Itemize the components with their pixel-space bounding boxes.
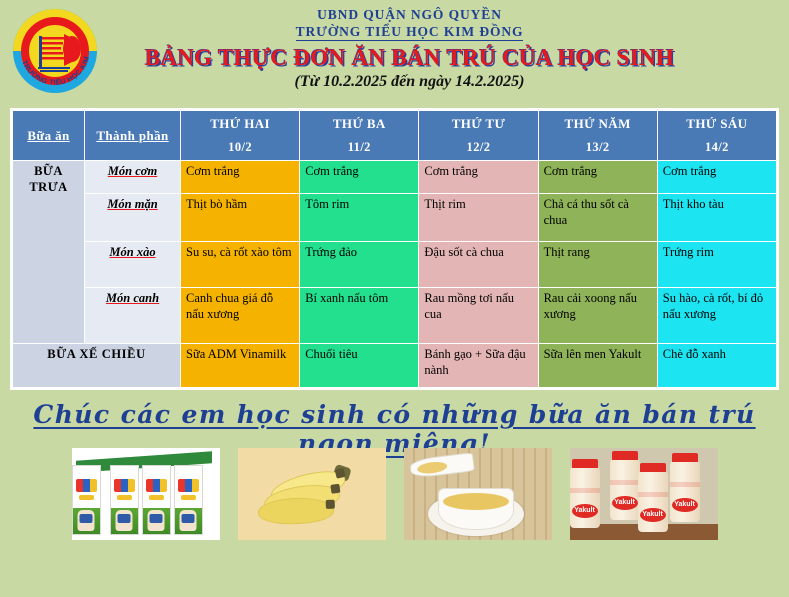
corn-soup-liquid xyxy=(443,493,509,510)
org-authority-line: UBND QUẬN NGÔ QUYỀN xyxy=(40,6,779,23)
component-label-mon-com: Món cơm xyxy=(85,161,181,194)
table-row-mon-man: Món mặn Thịt bò hầm Tôm rim Thịt rim Chả… xyxy=(13,194,777,242)
page-header: TRƯỜNG TIỂU HỌC KIM ĐỒNG UBND QUẬN NGÔ Q… xyxy=(0,0,789,104)
day-date-thursday: 13/2 xyxy=(544,140,652,156)
cell-mon-man-friday: Thịt kho tàu xyxy=(657,194,776,242)
cow-mascot-icon xyxy=(78,510,95,531)
cell-mon-xao-wednesday: Đậu sốt cà chua xyxy=(419,242,538,288)
meal-label-lunch-line2: TRƯA xyxy=(29,180,67,194)
table-header-row: Bữa ăn Thành phần THỨ HAI 10/2 THỨ BA 11… xyxy=(13,111,777,161)
table-row-mon-xao: Món xào Su su, cà rốt xào tôm Trứng đảo … xyxy=(13,242,777,288)
cell-mon-canh-thursday: Rau cải xoong nấu xương xyxy=(538,288,657,344)
school-name-line: TRƯỜNG TIỂU HỌC KIM ĐỒNG xyxy=(40,23,779,40)
day-name-thursday: THỨ NĂM xyxy=(544,116,652,132)
milk-carton xyxy=(110,465,139,535)
column-header-component: Thành phần xyxy=(85,111,181,161)
table-body: BỮA TRƯA Món cơm Cơm trắng Cơm trắng Cơm… xyxy=(13,161,777,388)
cell-mon-man-thursday: Chả cá thu sốt cà chua xyxy=(538,194,657,242)
cell-mon-com-tuesday: Cơm trắng xyxy=(300,161,419,194)
yakult-label: Yakult xyxy=(572,504,598,518)
cell-mon-com-wednesday: Cơm trắng xyxy=(419,161,538,194)
banana-stem xyxy=(334,468,345,479)
bottle-band xyxy=(670,482,700,487)
date-range-subtitle: (Từ 10.2.2025 đến ngày 14.2.2025) xyxy=(40,73,779,91)
day-name-friday: THỨ SÁU xyxy=(663,116,771,132)
day-name-wednesday: THỨ TƯ xyxy=(424,116,532,132)
school-logo: TRƯỜNG TIỂU HỌC KIM ĐỒNG xyxy=(12,6,98,96)
page-title: BẢNG THỰC ĐƠN ĂN BÁN TRÚ CỦA HỌC SINH xyxy=(40,44,779,71)
yakult-bottles-photo: Yakult Yakult Yakult Yakult xyxy=(570,448,718,540)
cell-snack-friday: Chè đỗ xanh xyxy=(657,344,776,388)
cell-mon-canh-tuesday: Bí xanh nấu tôm xyxy=(300,288,419,344)
yakult-bottle: Yakult xyxy=(570,466,600,528)
yakult-label: Yakult xyxy=(672,498,698,512)
day-name-monday: THỨ HAI xyxy=(186,116,294,132)
milk-carton xyxy=(142,465,171,535)
day-date-tuesday: 11/2 xyxy=(305,140,413,156)
day-date-friday: 14/2 xyxy=(663,140,771,156)
bottle-band xyxy=(610,480,640,485)
wish-banner: Chúc các em học sinh có những bữa ăn bán… xyxy=(0,400,789,444)
cow-mascot-icon xyxy=(116,510,133,531)
milk-carton xyxy=(174,465,203,535)
cell-mon-xao-tuesday: Trứng đảo xyxy=(300,242,419,288)
table-header: Bữa ăn Thành phần THỨ HAI 10/2 THỨ BA 11… xyxy=(13,111,777,161)
cell-mon-man-monday: Thịt bò hầm xyxy=(181,194,300,242)
cell-mon-canh-monday: Canh chua giá đỗ nấu xương xyxy=(181,288,300,344)
cell-mon-canh-friday: Su hào, cà rốt, bí đỏ nấu xương xyxy=(657,288,776,344)
component-label-mon-xao: Món xào xyxy=(85,242,181,288)
table-row-mon-canh: Món canh Canh chua giá đỗ nấu xương Bí x… xyxy=(13,288,777,344)
column-header-wednesday: THỨ TƯ 12/2 xyxy=(419,111,538,161)
banana-stem xyxy=(330,484,340,494)
cell-mon-xao-friday: Trứng rim xyxy=(657,242,776,288)
menu-table: Bữa ăn Thành phần THỨ HAI 10/2 THỨ BA 11… xyxy=(12,110,777,388)
milk-cartons-photo xyxy=(72,448,220,540)
corn-soup-photo xyxy=(404,448,552,540)
column-header-meal: Bữa ăn xyxy=(13,111,85,161)
cow-mascot-icon xyxy=(180,510,197,531)
cell-mon-com-friday: Cơm trắng xyxy=(657,161,776,194)
yakult-label: Yakult xyxy=(612,496,638,510)
column-header-tuesday: THỨ BA 11/2 xyxy=(300,111,419,161)
bottle-band xyxy=(638,492,668,497)
yakult-bottle: Yakult xyxy=(638,470,668,532)
bananas-photo xyxy=(238,448,386,540)
day-date-monday: 10/2 xyxy=(186,140,294,156)
cell-mon-canh-wednesday: Rau mồng tơi nấu cua xyxy=(419,288,538,344)
banana-stem xyxy=(325,500,334,509)
photo-strip: Yakult Yakult Yakult Yakult xyxy=(0,448,789,540)
milk-carton xyxy=(72,465,101,535)
yakult-bottle: Yakult xyxy=(670,460,700,522)
component-label-mon-canh: Món canh xyxy=(85,288,181,344)
cell-mon-xao-monday: Su su, cà rốt xào tôm xyxy=(181,242,300,288)
yakult-bottle: Yakult xyxy=(610,458,640,520)
meal-label-lunch-line1: BỮA xyxy=(34,164,63,178)
column-header-monday: THỨ HAI 10/2 xyxy=(181,111,300,161)
cell-mon-com-thursday: Cơm trắng xyxy=(538,161,657,194)
table-row-afternoon-snack: BỮA XẾ CHIỀU Sữa ADM Vinamilk Chuối tiêu… xyxy=(13,344,777,388)
cell-snack-monday: Sữa ADM Vinamilk xyxy=(181,344,300,388)
bottle-band xyxy=(570,488,600,493)
cell-mon-xao-thursday: Thịt rang xyxy=(538,242,657,288)
table-row-mon-com: BỮA TRƯA Món cơm Cơm trắng Cơm trắng Cơm… xyxy=(13,161,777,194)
cell-mon-man-tuesday: Tôm rim xyxy=(300,194,419,242)
cell-snack-tuesday: Chuối tiêu xyxy=(300,344,419,388)
cow-mascot-icon xyxy=(148,510,165,531)
column-header-thursday: THỨ NĂM 13/2 xyxy=(538,111,657,161)
day-date-wednesday: 12/2 xyxy=(424,140,532,156)
cell-mon-com-monday: Cơm trắng xyxy=(181,161,300,194)
cell-snack-wednesday: Bánh gạo + Sữa đậu nành xyxy=(419,344,538,388)
day-name-tuesday: THỨ BA xyxy=(305,116,413,132)
yakult-label: Yakult xyxy=(640,508,666,522)
cell-mon-man-wednesday: Thịt rim xyxy=(419,194,538,242)
cell-snack-thursday: Sữa lên men Yakult xyxy=(538,344,657,388)
meal-label-lunch: BỮA TRƯA xyxy=(13,161,85,344)
column-header-friday: THỨ SÁU 14/2 xyxy=(657,111,776,161)
menu-table-container: Bữa ăn Thành phần THỨ HAI 10/2 THỨ BA 11… xyxy=(10,108,779,390)
component-label-mon-man: Món mặn xyxy=(85,194,181,242)
meal-label-afternoon-snack: BỮA XẾ CHIỀU xyxy=(13,344,181,388)
